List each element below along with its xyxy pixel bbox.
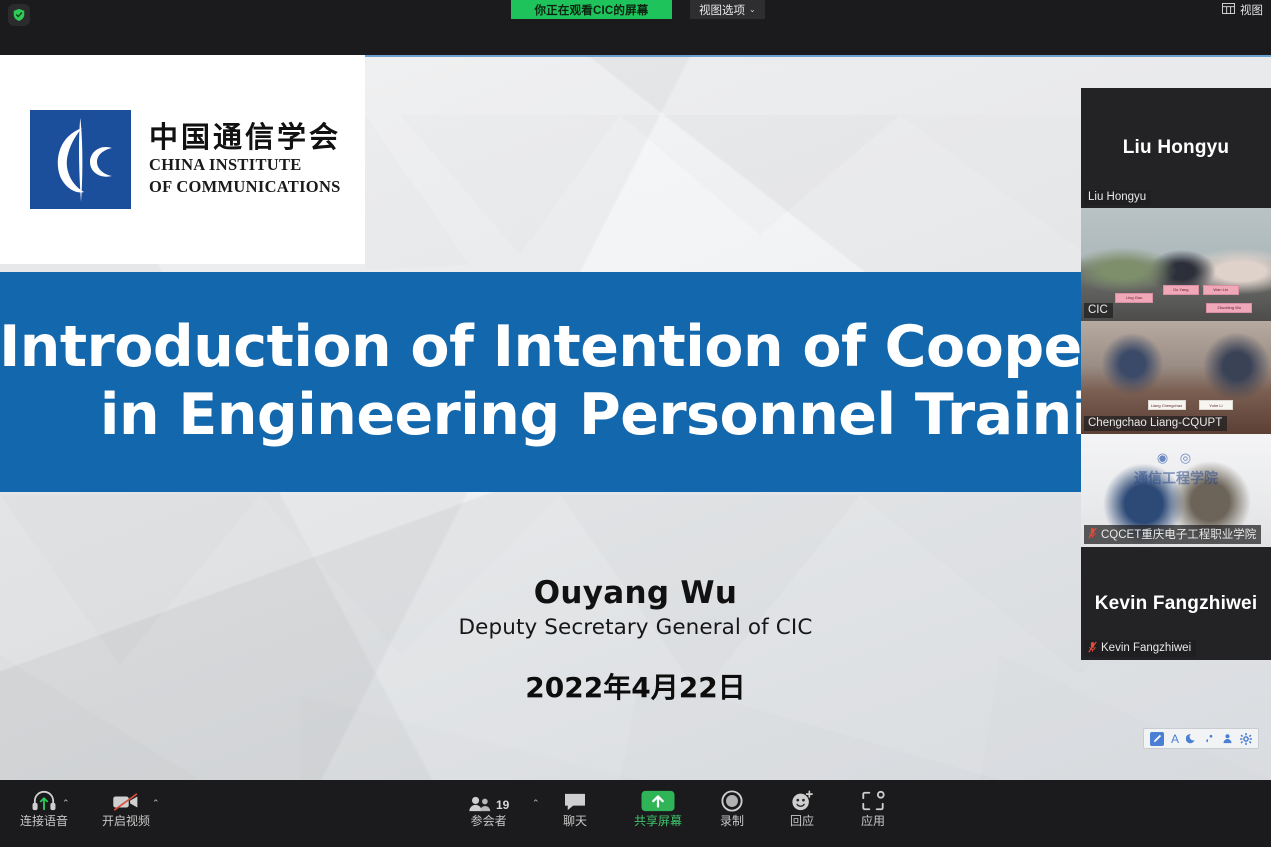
tile-label-text: Chengchao Liang-CQUPT [1088,417,1222,429]
nameplate: Wan Lin [1203,285,1239,295]
cic-emblem-icon [30,110,131,209]
pen-icon[interactable] [1150,732,1164,746]
tile-label-text: Kevin Fangzhiwei [1101,642,1191,654]
nameplate: Zhuobing Wu [1206,303,1252,313]
tile-name-label: Liu Hongyu [1084,190,1151,205]
screen-share-notice-text: 你正在观看CIC的屏幕 [534,2,648,18]
cic-name-cn: 中国通信学会 [149,121,341,154]
video-tile-cqcet[interactable]: ◉ ◎ 通信工程学院 CQCET重庆电子工程职业学院 [1081,434,1271,547]
top-bar: 你正在观看CIC的屏幕 视图选项 ⌄ 视图 [0,0,1271,55]
cic-logo-text: 中国通信学会 CHINA INSTITUTE OF COMMUNICATIONS [149,121,341,198]
record-circle-icon [721,786,743,812]
annotation-toolbar[interactable]: A [1143,728,1259,749]
participants-label: 参会者 [471,815,507,827]
view-options-label: 视图选项 [699,2,745,18]
participants-icon: 19 [468,786,509,812]
tile-name-label: Chengchao Liang-CQUPT [1084,416,1227,431]
tile-label-text: Liu Hongyu [1088,191,1146,203]
join-audio-button[interactable]: 连接语音 [20,786,68,827]
join-audio-label: 连接语音 [20,815,68,827]
tile-label-text: CQCET重庆电子工程职业学院 [1101,526,1256,542]
record-button[interactable]: 录制 [720,786,744,827]
participants-button[interactable]: 19 参会者 [468,786,509,827]
apps-label: 应用 [861,815,885,827]
share-screen-label: 共享屏幕 [634,815,682,827]
text-icon[interactable]: A [1171,733,1179,745]
mic-off-icon [1088,641,1097,655]
nameplate: Yuhe Li [1199,400,1233,410]
slide-title-line2: in Engineering Personnel Training [100,386,1171,446]
apps-bracket-icon [861,786,885,812]
share-screen-up-arrow-icon [641,786,675,812]
video-filmstrip[interactable]: Liu Hongyu Liu Hongyu Ling Gao Ou Yang W… [1081,88,1271,660]
meeting-controls-bar: 连接语音 ⌃ 开启视频 ⌃ 19 [0,780,1271,847]
chevron-down-icon: ⌄ [749,5,756,14]
reactions-label: 回应 [790,815,814,827]
start-video-button[interactable]: 开启视频 [102,786,150,827]
zoom-meeting-window: 你正在观看CIC的屏幕 视图选项 ⌄ 视图 [0,0,1271,847]
tile-label-text: CIC [1088,304,1108,316]
video-tile-liu-hongyu[interactable]: Liu Hongyu Liu Hongyu [1081,88,1271,208]
camera-off-icon [112,786,140,812]
nameplate: Ling Gao [1115,293,1153,303]
tile-name-label: CIC [1084,303,1113,318]
apps-button[interactable]: 应用 [861,786,885,827]
reactions-button[interactable]: 回应 [790,786,814,827]
grid-view-icon [1222,3,1235,17]
moon-icon[interactable] [1186,733,1197,744]
tile-name-label: Kevin Fangzhiwei [1084,640,1196,657]
reactions-smiley-plus-icon [790,786,814,812]
chat-button[interactable]: 聊天 [563,786,587,827]
presenter-role: Deputy Secretary General of CIC [459,615,813,640]
participants-caret[interactable]: ⌃ [532,798,540,809]
video-tile-cic[interactable]: Ling Gao Ou Yang Wan Lin Zhuobing Wu CIC [1081,208,1271,321]
nameplate: Ou Yang [1163,285,1199,295]
mic-off-icon [1088,527,1097,541]
screen-share-notice: 你正在观看CIC的屏幕 [511,0,672,19]
video-options-caret[interactable]: ⌃ [152,798,160,809]
spotlight-icon[interactable] [1204,733,1215,744]
institution-emblems: ◉ ◎ [1157,450,1195,466]
presenter-name: Ouyang Wu [534,575,738,611]
share-screen-button[interactable]: 共享屏幕 [634,786,682,827]
cic-name-en-line1: CHINA INSTITUTE [149,154,341,176]
audio-options-caret[interactable]: ⌃ [62,798,70,809]
view-layout-button[interactable]: 视图 [1222,1,1263,19]
shield-check-icon[interactable] [8,4,30,26]
institution-wordmark: 通信工程学院 [1134,468,1218,488]
presentation-date: 2022年4月22日 [525,666,745,706]
slide-top-accent [365,55,1271,57]
view-options-button[interactable]: 视图选项 ⌄ [690,0,765,19]
chat-label: 聊天 [563,815,587,827]
cic-name-en-line2: OF COMMUNICATIONS [149,176,341,198]
record-label: 录制 [720,815,744,827]
video-tile-kevin-fangzhiwei[interactable]: Kevin Fangzhiwei Kevin Fangzhiwei [1081,547,1271,660]
participants-count: 19 [496,798,509,812]
person-icon[interactable] [1222,733,1233,744]
nameplate: Liang Chengchao [1148,400,1186,410]
view-layout-label: 视图 [1240,2,1263,18]
chat-bubble-icon [563,786,587,812]
headset-join-audio-icon [31,786,57,812]
gear-icon[interactable] [1240,733,1252,745]
start-video-label: 开启视频 [102,815,150,827]
tile-name-label: CQCET重庆电子工程职业学院 [1084,525,1261,544]
cic-logo-block: 中国通信学会 CHINA INSTITUTE OF COMMUNICATIONS [0,55,365,264]
video-tile-chengchao-liang-cqupt[interactable]: Liang Chengchao Yuhe Li Chengchao Liang-… [1081,321,1271,434]
